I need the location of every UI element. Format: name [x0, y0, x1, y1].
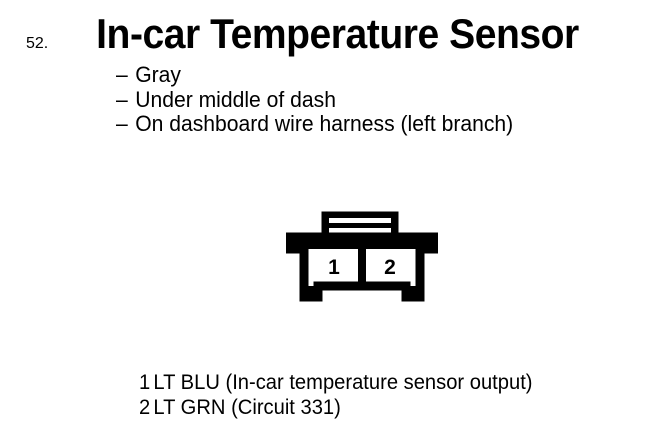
pin-legend-row: 1LT BLU (In-car temperature sensor outpu… [139, 370, 533, 395]
connector-body [289, 237, 435, 297]
list-item-label: Gray [135, 62, 181, 87]
connector-diagram: 1 2 [286, 208, 438, 310]
description-list: –Gray –Under middle of dash –On dashboar… [116, 63, 530, 137]
page-title: 52. In-car Temperature Sensor [26, 10, 597, 58]
item-number: 52. [26, 35, 48, 53]
pin-legend: 1LT BLU (In-car temperature sensor outpu… [139, 370, 549, 420]
cavity-number-1: 1 [328, 256, 340, 279]
cavity-divider [358, 241, 366, 286]
bullet-dash-icon: – [116, 88, 135, 113]
list-item: –On dashboard wire harness (left branch) [116, 112, 513, 137]
bullet-dash-icon: – [116, 112, 135, 137]
list-item-label: On dashboard wire harness (left branch) [135, 111, 513, 136]
component-title: In-car Temperature Sensor [96, 10, 579, 58]
list-item: –Under middle of dash [116, 88, 513, 113]
pin-legend-row: 2LT GRN (Circuit 331) [139, 395, 533, 420]
list-item-label: Under middle of dash [135, 87, 336, 112]
bullet-dash-icon: – [116, 63, 135, 88]
cavity-number-2: 2 [384, 256, 396, 279]
pin-legend-number: 1 [139, 370, 153, 395]
pin-legend-text: LT GRN (Circuit 331) [153, 396, 340, 419]
pin-legend-text: LT BLU (In-car temperature sensor output… [153, 371, 532, 394]
pin-legend-number: 2 [139, 395, 153, 420]
list-item: –Gray [116, 63, 513, 88]
